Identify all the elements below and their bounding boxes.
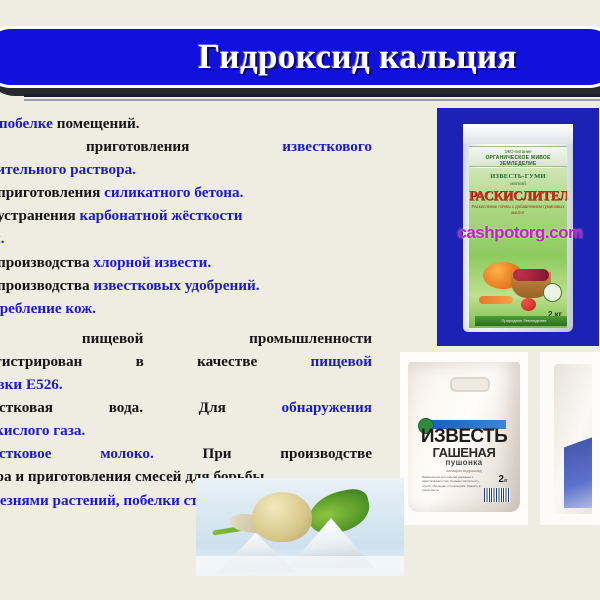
body-text-segment: строительного раствора. (0, 161, 136, 178)
body-line: Для устранения карбонатной жёсткости (0, 204, 372, 227)
body-text-segment: пищевой (82, 327, 144, 350)
green-bag-top-seal (463, 124, 573, 144)
body-line: При побелке помещений. (0, 112, 372, 135)
body-text-segment: известкового (282, 135, 372, 158)
body-text-segment: добавки E526. (0, 376, 63, 393)
white-bag-weight: 2кг (498, 474, 508, 485)
body-line: Известковаявода.Дляобнаружения (0, 396, 372, 419)
sugar-beet (252, 492, 312, 542)
body-text-segment: зарегистрирован (0, 350, 82, 373)
barcode-icon (484, 488, 510, 502)
banner-underline (24, 94, 600, 97)
bag-handle (450, 377, 490, 392)
body-text-segment: обнаружения (282, 396, 372, 419)
title-banner: Гидроксид кальция (0, 26, 600, 88)
body-text-segment: пищевой (310, 350, 372, 373)
body-text-segment: Известковая (0, 396, 53, 419)
banner-fill: Гидроксид кальция (0, 29, 600, 85)
carrot-icon (479, 296, 513, 304)
body-text-segment: промышленности (249, 327, 372, 350)
body-text-segment: помещений. (57, 115, 140, 132)
body-line: зарегистрированвкачествепищевой (0, 350, 372, 373)
white-bag-note: кальция гидроксид (408, 468, 520, 473)
photo-sugar-beet (196, 478, 404, 576)
paragraph-gap (0, 320, 372, 327)
green-bag-front-panel: ИЗВЕСТЬ-ГУМИ мягкий РАСКИСЛИТЕЛЬ Раскисл… (469, 168, 567, 328)
body-text-segment: качестве (197, 350, 257, 373)
body-line: строительного раствора. (0, 158, 372, 181)
banner-underline-light (24, 99, 600, 101)
slide-root: Гидроксид кальция При побелке помещений.… (0, 0, 600, 600)
right-edge-filler (592, 352, 600, 525)
body-text-segment: Для производства (0, 277, 93, 294)
green-bag-brand: ИЗВЕСТЬ-ГУМИ (469, 173, 567, 180)
body-text-segment: производстве (280, 442, 372, 465)
body-line: Для приготовления силикатного бетона. (0, 181, 372, 204)
green-bag-eco-label: ЭКО-питание ОРГАНИЧЕСКОЕ ЖИВОЕ ЗЕМЛЕДЕЛИ… (469, 146, 567, 167)
body-line: углекислого газа. (0, 419, 372, 442)
white-bag-kind: пушонка (408, 458, 520, 467)
green-bag-description: Раскисление почвы с добавлением гуминовы… (469, 204, 567, 216)
body-line: воды. (0, 227, 372, 250)
body-text-block: При побелке помещений.Дляприготовленияиз… (0, 112, 372, 512)
body-line: Употребление кож. (0, 297, 372, 320)
body-text-segment: Для (199, 396, 226, 419)
green-bag-subtitle: мягкий (469, 181, 567, 187)
white-bag-fine-print: Применяется для побелки деревьев и извес… (422, 475, 488, 497)
body-line: Впищевойпромышленности (0, 327, 372, 350)
watermark-text: cashpotorg.com (439, 223, 599, 243)
body-text-segment: углекислого газа. (0, 422, 85, 439)
body-text-segment: известковых удобрений. (93, 277, 259, 294)
body-text-segment: карбонатной жёсткости (80, 207, 243, 224)
body-line: Известковоемолоко.Припроизводстве (0, 442, 372, 465)
white-bag-weight-unit: кг (504, 478, 508, 484)
body-line: Для производства хлорной извести. (0, 251, 372, 274)
photo-partial-lime-bag (540, 352, 600, 525)
photo-white-lime-bag: ИЗВЕСТЬ ГАШЕНАЯ пушонка кальция гидрокси… (400, 352, 528, 525)
body-text-segment: молоко. (100, 442, 154, 465)
berries-icon (513, 269, 549, 281)
body-text-segment: Употребление кож. (0, 300, 96, 317)
sugar-photo-foreground (196, 556, 404, 576)
body-line: Для производства известковых удобрений. (0, 274, 372, 297)
eco-label-line2: ОРГАНИЧЕСКОЕ ЖИВОЕ ЗЕМЛЕДЕЛИЕ (469, 155, 567, 168)
eco-label-line1: ЭКО-питание (504, 149, 531, 154)
body-text-segment: в (136, 350, 144, 373)
body-line: Дляприготовленияизвесткового (0, 135, 372, 158)
tomato-icon (521, 298, 536, 311)
body-line: добавки E526. (0, 373, 372, 396)
body-text-segment: Для производства (0, 254, 93, 271)
white-bag-body: ИЗВЕСТЬ ГАШЕНАЯ пушонка кальция гидрокси… (408, 362, 520, 512)
body-text-segment: воды. (0, 230, 5, 247)
body-text-segment: Для приготовления (0, 184, 104, 201)
eco-badge-icon (543, 283, 562, 302)
body-text-segment: побелке (0, 115, 57, 132)
body-text-segment: силикатного бетона. (104, 184, 243, 201)
green-bag-bottom-strip: Природное Земледелие (475, 316, 567, 326)
photo-green-fertiliser-bag: ЭКО-питание ОРГАНИЧЕСКОЕ ЖИВОЕ ЗЕМЛЕДЕЛИ… (437, 108, 599, 346)
body-text-segment: Известковое (0, 442, 51, 465)
body-text-segment: хлорной извести. (93, 254, 211, 271)
body-text-segment: приготовления (86, 135, 189, 158)
page-title: Гидроксид кальция (83, 37, 517, 77)
body-text-segment: Для устранения (0, 207, 80, 224)
body-text-segment: вода. (109, 396, 143, 419)
green-bag-headline: РАСКИСЛИТЕЛЬ (469, 188, 567, 204)
body-text-segment: При (203, 442, 232, 465)
